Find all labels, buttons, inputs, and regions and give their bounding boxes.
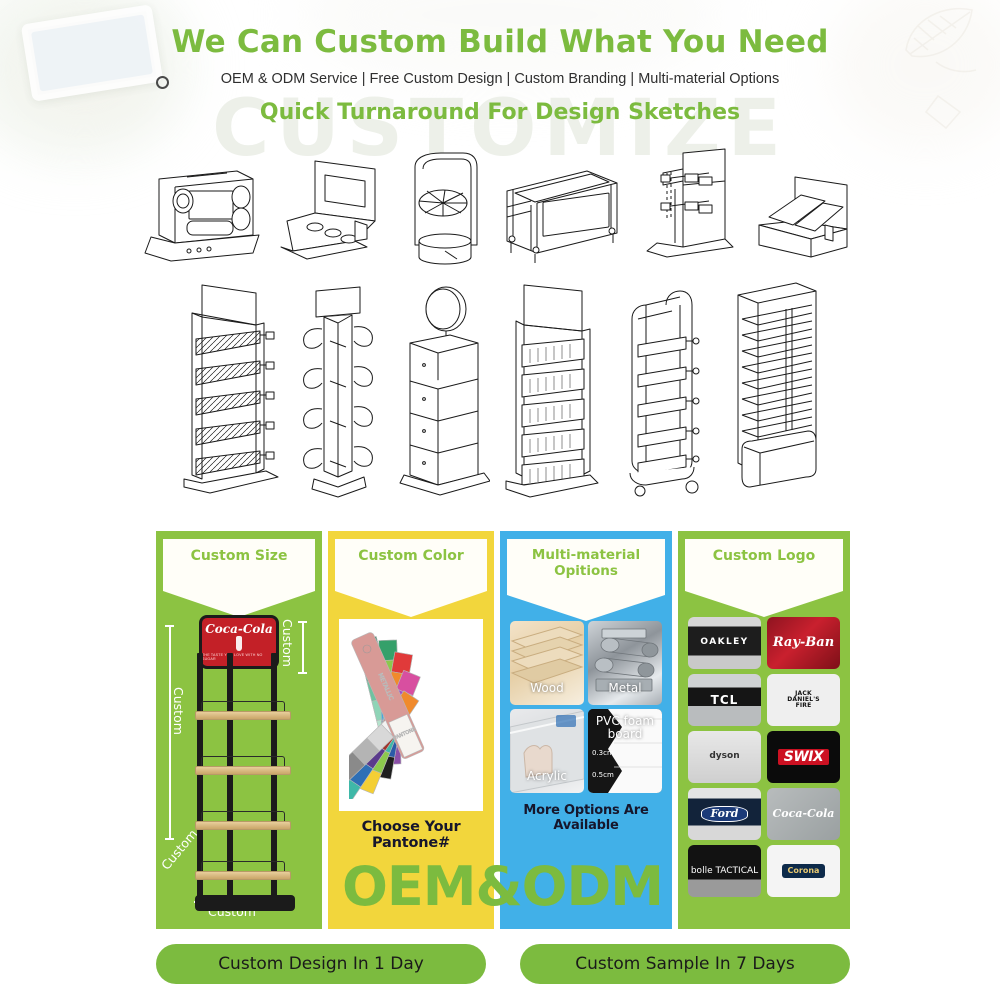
angled-counter-display-sketch [751, 171, 859, 267]
ribbon-custom-size: Custom Size [163, 539, 315, 591]
panel-title-multi-material: Multi-material Opitions [507, 548, 665, 579]
bottle-icon [236, 636, 242, 651]
header: We Can Custom Build What You Need OEM & … [0, 0, 1000, 125]
header-tagline: Quick Turnaround For Design Sketches [0, 100, 1000, 125]
logo-label-tcl: TCL [711, 694, 739, 707]
hook-peg-floor-display-sketch [633, 147, 741, 267]
pantone-fan-deck-icon: PANTONE METALLIC [349, 631, 473, 799]
open-bin-counter-display-sketch [495, 161, 623, 267]
dimension-arrow-header-cap-bottom [298, 672, 307, 674]
logo-cell-cocacola: Coca-Cola [767, 788, 840, 840]
material-cell-wood: Wood [510, 621, 584, 705]
shelf-1 [195, 711, 291, 720]
panel-custom-logo[interactable]: Custom Logo OAKLEY Ray-Ban TCL JACK DANI… [678, 531, 850, 929]
pvc-thickness-1: 0.3cm [592, 749, 614, 757]
logo-cell-ford: Ford [688, 788, 761, 840]
logo-cell-bolle: bolle TACTICAL [688, 845, 761, 897]
panel-title-custom-logo: Custom Logo [713, 548, 816, 564]
custom-design-button[interactable]: Custom Design In 1 Day [156, 944, 486, 984]
material-cell-acrylic: Acrylic [510, 709, 584, 793]
round-topper-cabinet-display-sketch [394, 285, 490, 503]
five-tier-mesh-shelf-display-sketch [174, 283, 286, 503]
shelf-rail-3 [201, 811, 285, 821]
logo-label-dyson: dyson [709, 752, 739, 761]
oem-odm-heading: OEM&ODM [330, 855, 675, 918]
custom-size-illustration: Custom Custom Custom Custom Coca-Cola TH [156, 605, 322, 929]
pantone-swatch-card: PANTONE METALLIC [339, 619, 483, 811]
shelf-rail-2 [201, 756, 285, 766]
product-tagline: THE TASTE YOU LOVE WITH NO SUGAR [202, 653, 276, 661]
custom-sample-button[interactable]: Custom Sample In 7 Days [520, 944, 850, 984]
shelf-3 [195, 821, 291, 830]
sketch-row-top [0, 137, 1000, 267]
dimension-arrow-header [302, 621, 304, 673]
logo-label-jack-daniels: JACK DANIEL'S FIRE [781, 691, 827, 710]
material-grid: Wood Metal [510, 621, 662, 793]
logo-cell-rayban: Ray-Ban [767, 617, 840, 669]
multi-tier-tower-with-bin-sketch [720, 281, 826, 503]
header-subtitle: OEM & ODM Service | Free Custom Design |… [0, 71, 1000, 87]
material-label-pvc: PVC foam board [588, 715, 662, 741]
dimension-arrow-height-cap-top [165, 625, 174, 627]
rack-base [195, 895, 295, 911]
shelf-rail-1 [201, 701, 285, 711]
peg-hook-tower-display-sketch [294, 285, 386, 503]
rack-header-branding: Coca-Cola THE TASTE YOU LOVE WITH NO SUG… [202, 618, 276, 666]
five-tier-wire-shelf-display-sketch [498, 283, 604, 503]
sketch-row-bottom [0, 271, 1000, 503]
rolling-tube-rack-display-sketch [612, 283, 712, 503]
material-label-metal: Metal [588, 681, 662, 695]
rotating-tower-display-sketch [401, 151, 485, 267]
dimension-arrow-header-cap-top [298, 621, 307, 623]
cta-button-row: Custom Design In 1 Day Custom Sample In … [156, 944, 850, 984]
logo-cell-dyson: dyson [688, 731, 761, 783]
logo-label-rayban: Ray-Ban [773, 636, 834, 650]
ribbon-custom-logo: Custom Logo [685, 539, 843, 591]
logo-cell-corona: Corona [767, 845, 840, 897]
rack-frame: Coca-Cola THE TASTE YOU LOVE WITH NO SUG… [193, 615, 281, 911]
logo-cell-swix: SWIX [767, 731, 840, 783]
sketch-gallery [0, 137, 1000, 503]
material-cell-metal: Metal [588, 621, 662, 705]
panel-title-custom-color: Custom Color [358, 548, 464, 564]
material-label-acrylic: Acrylic [510, 769, 584, 783]
coca-cola-display-rack: Coca-Cola THE TASTE YOU LOVE WITH NO SUG… [183, 615, 291, 911]
pvc-thickness-2: 0.5cm [592, 771, 614, 779]
logo-label-oakley: OAKLEY [700, 638, 748, 647]
counter-audio-display-sketch [141, 157, 261, 267]
panel-custom-size[interactable]: Custom Size Custom Custom Custom Custom [156, 531, 322, 929]
logo-label-bolle: bolle TACTICAL [691, 866, 758, 877]
rack-header-sign: Coca-Cola THE TASTE YOU LOVE WITH NO SUG… [199, 615, 279, 669]
logo-label-cocacola: Coca-Cola [773, 808, 835, 820]
logo-cell-oakley: OAKLEY [688, 617, 761, 669]
page-title: We Can Custom Build What You Need [0, 24, 1000, 60]
shelf-4 [195, 871, 291, 880]
logo-grid: OAKLEY Ray-Ban TCL JACK DANIEL'S FIRE dy… [688, 617, 840, 897]
logo-label-corona: Corona [782, 864, 826, 878]
ribbon-custom-color: Custom Color [335, 539, 487, 591]
material-cell-pvc: PVC foam board 0.3cm 0.5cm [588, 709, 662, 793]
logo-label-swix: SWIX [778, 749, 830, 766]
pantone-caption: Choose Your Pantone# [328, 819, 494, 851]
counter-tablet-display-sketch [271, 155, 391, 267]
logo-cell-tcl: TCL [688, 674, 761, 726]
material-caption: More Options Are Available [500, 803, 672, 833]
dimension-arrow-height-cap-bottom [165, 838, 174, 840]
ribbon-multi-material: Multi-material Opitions [507, 539, 665, 595]
coca-cola-logo-text: Coca-Cola [205, 623, 273, 635]
material-label-wood: Wood [510, 681, 584, 695]
panel-title-custom-size: Custom Size [191, 548, 288, 564]
shelf-rail-4 [201, 861, 285, 871]
logo-cell-jack-daniels: JACK DANIEL'S FIRE [767, 674, 840, 726]
shelf-2 [195, 766, 291, 775]
logo-label-ford: Ford [701, 806, 747, 822]
